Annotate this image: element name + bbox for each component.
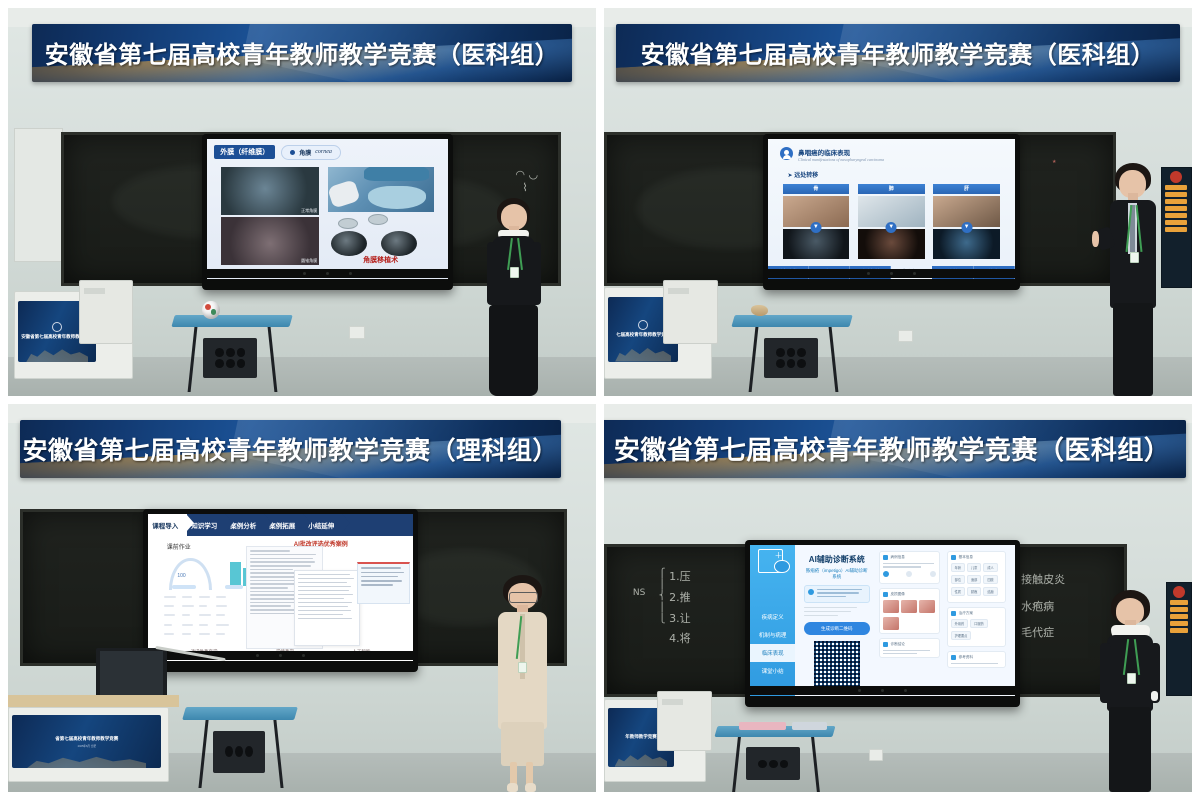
skyline-graphic: [27, 752, 146, 768]
card-icon: [951, 611, 956, 616]
bezel-dot: [279, 654, 282, 657]
bezel-dot: [858, 689, 861, 692]
desk-panel: [213, 731, 264, 773]
card-header: 病例信息: [883, 555, 936, 560]
chip[interactable]: 部位: [951, 575, 965, 584]
desk-leg: [188, 327, 198, 392]
slide-eye-anatomy: 外膜（纤维膜） 角膜 cornea 正常角膜: [207, 139, 448, 279]
slide-images: 正常角膜 圆锥角膜: [221, 167, 433, 265]
podium-sign-text: 年教师教学竞赛: [625, 734, 657, 740]
imaging-photo: [933, 229, 1000, 260]
result-card: 诊断结论: [879, 638, 940, 659]
eye-model: [202, 301, 220, 319]
slide-surface: 鼻咽癌的临床表现 Clinical manifestations of naso…: [768, 139, 1015, 279]
desk-leg: [811, 737, 820, 792]
desk-leg: [828, 327, 838, 392]
chip[interactable]: 结痂: [983, 587, 997, 596]
surgical-cap: [364, 167, 430, 181]
column-caption: 肺: [858, 184, 925, 194]
demo-desk: [173, 315, 291, 393]
keratoconus-photo: 圆锥角膜: [221, 217, 319, 265]
chip-button[interactable]: [172, 585, 196, 589]
arm: [531, 242, 541, 305]
cornea-disc: [338, 218, 358, 229]
presenter: [1092, 163, 1174, 396]
event-banner: 安徽省第七届高校青年教师教学竞赛（医科组）: [604, 420, 1186, 478]
sidebar-item-summary[interactable]: 课堂小结: [750, 662, 795, 680]
lesion-thumb[interactable]: [919, 600, 935, 613]
skull-model: [751, 305, 768, 316]
wall-socket: [349, 326, 365, 339]
chalk-note: 2.推: [669, 591, 691, 605]
column-liver: 肝 ▼: [933, 184, 1000, 259]
eyeball-graphic: [331, 231, 367, 256]
trousers: [1113, 303, 1153, 396]
desk-holes: [215, 348, 245, 367]
column-caption: 肝: [933, 184, 1000, 194]
card-icon: [883, 555, 888, 560]
intro-column: AI辅助诊断系统 脓疱疮（impetigo）AI辅助诊断系统: [804, 554, 870, 687]
demo-desk: [733, 315, 851, 393]
column-bone: 骨 ▼: [783, 184, 850, 259]
chip[interactable]: 四肢: [983, 575, 997, 584]
sidebar-item-definition[interactable]: 疾病定义: [750, 608, 795, 626]
arm: [487, 242, 497, 305]
chip[interactable]: 口服药: [970, 619, 988, 628]
screen-bezel: [750, 686, 1015, 695]
desk-holes: [758, 760, 788, 768]
card-header: 皮损图像: [883, 592, 936, 597]
slide-tag: 外膜（纤维膜）: [214, 145, 275, 159]
bezel-dot: [256, 654, 259, 657]
image-label: 正常角膜: [301, 208, 317, 214]
sidebar-item-clinical[interactable]: 临床表现: [750, 644, 795, 662]
transplant-diagram: [328, 216, 434, 257]
step-nav-spacer: [343, 514, 413, 536]
podium: 省第七届高校青年教师教学竞赛 2025年6月 合肥: [8, 707, 169, 783]
qr-code: [814, 641, 860, 687]
bezel-dot: [913, 272, 916, 275]
image-label: 圆锥角膜: [301, 258, 317, 264]
card-label: 参考资料: [959, 655, 973, 660]
bezel-dot: [302, 654, 305, 657]
panel-bottom-left: 安徽省第七届高校青年教师教学竞赛（理科组） 课程导入 知识学习 案例分析 案例拓…: [0, 400, 600, 800]
chalk-brace: ⎧ ⎪ ⎨ ⎪ ⎩: [659, 569, 666, 625]
skyline-graphic: [615, 749, 668, 767]
slide-title-cn: 鼻咽癌的临床表现: [798, 147, 884, 157]
gloved-hand: [328, 179, 360, 209]
info-icon: [808, 589, 814, 595]
slide-header: 鼻咽癌的临床表现 Clinical manifestations of naso…: [780, 147, 884, 162]
bezel-dot: [881, 689, 884, 692]
slide-title-en: Clinical manifestations of nasopharyngea…: [798, 157, 884, 162]
column-lung: 肺 ▼: [858, 184, 925, 259]
desk-top: [732, 315, 853, 327]
chevron-down-icon: ▼: [810, 222, 821, 233]
card-icon: [883, 592, 888, 597]
slide-main: AI辅助诊断系统 脓疱疮（impetigo）AI辅助诊断系统: [795, 545, 1015, 696]
banner-text: 安徽省第七届高校青年教师教学竞赛（医科组）: [45, 35, 560, 70]
presenter: [1086, 590, 1174, 792]
lesion-thumb[interactable]: [901, 600, 917, 613]
podium-sign-text: 省第七届高校青年教师教学竞赛: [55, 736, 118, 742]
id-badge: [1127, 673, 1136, 684]
photo-grid: 安徽省第七届高校青年教师教学竞赛（医科组） ◠ ◡ ⌇ 外膜（纤维膜）: [0, 0, 1200, 800]
screen-bezel: [768, 269, 1015, 278]
slide-surface: 外膜（纤维膜） 角膜 cornea 正常角膜: [207, 139, 448, 279]
bezel-dot: [349, 272, 352, 275]
bezel-dot: [326, 272, 329, 275]
slide-npc-clinical: 鼻咽癌的临床表现 Clinical manifestations of naso…: [768, 139, 1015, 279]
arm: [1100, 643, 1111, 704]
chalk-note: 1.压: [669, 570, 691, 584]
gauge-value: 100: [177, 573, 185, 579]
desk-item: [792, 722, 827, 730]
attribute-card: 基本信息 年龄儿童成人 部位面部四肢 性质脓疱结痂: [947, 551, 1006, 603]
generate-qr-button[interactable]: 生成诊断二维码: [804, 622, 870, 635]
vent: [662, 699, 683, 705]
person-icon: [780, 147, 793, 160]
app-logo-icon: ＋: [758, 549, 790, 573]
podium-sign-text: 七届高校青年教师教学竞赛: [616, 332, 670, 338]
card-icon: [951, 655, 956, 660]
term-cn: 角膜: [299, 148, 311, 157]
slide-term-pill: 角膜 cornea: [281, 145, 341, 160]
slide-surface: 课程导入 知识学习 案例分析 案例拓展 小结延伸 课前作业 AI批改评选优秀案例…: [148, 514, 413, 661]
reference-card: 参考资料: [947, 651, 1006, 668]
card-label: 诊断结论: [891, 642, 905, 647]
step-dot: [906, 571, 912, 577]
desk-holes: [225, 746, 254, 757]
event-banner: 安徽省第七届高校青年教师教学竞赛（医科组）: [616, 24, 1180, 82]
card-label: 基本信息: [959, 555, 973, 560]
presenter: [478, 575, 566, 792]
demo-desk: [716, 726, 834, 792]
trousers: [1109, 707, 1151, 792]
normal-cornea-photo: 正常角膜: [221, 167, 319, 215]
photo-bottom-right: 安徽省第七届高校青年教师教学竞赛（医科组） NS 1.压 2.推 3.让 4.将…: [604, 404, 1192, 792]
glasses-icon: [509, 592, 537, 603]
podium-sign: 省第七届高校青年教师教学竞赛 2025年6月 合肥: [12, 715, 161, 768]
case-column: 病例信息 皮损图像: [879, 551, 940, 663]
id-badge: [510, 267, 519, 278]
desk-leg: [199, 720, 209, 788]
monitor-screen: [100, 651, 162, 695]
computer-tower: [663, 280, 718, 344]
teacher-monitor: [96, 648, 167, 698]
sidebar-item-mechanism[interactable]: 机制与病理: [750, 626, 795, 644]
chip-row: 部位面部四肢: [951, 575, 1002, 584]
chalk-note: 3.让: [669, 612, 691, 626]
panel-bottom-right: 安徽省第七届高校青年教师教学竞赛（医科组） NS 1.压 2.推 3.让 4.将…: [600, 400, 1200, 800]
chalk-red-note: ★: [1052, 159, 1056, 165]
step-intro[interactable]: 课程导入: [148, 514, 187, 536]
emblem-icon: [638, 320, 648, 330]
ai-comment-note: [357, 562, 410, 603]
demo-desk: [184, 707, 296, 788]
info-callout: [804, 585, 870, 603]
imaging-photo: [858, 229, 925, 260]
chip[interactable]: 护理要点: [951, 631, 972, 640]
wall-socket: [869, 749, 883, 761]
chip-button[interactable]: [225, 585, 244, 589]
event-banner: 安徽省第七届高校青年教师教学竞赛（医科组）: [32, 24, 573, 82]
card-icon: [951, 555, 956, 560]
wall-cabinet: [14, 128, 63, 262]
step-dot: [930, 571, 936, 577]
chip[interactable]: 儿童: [967, 563, 981, 572]
photo-top-right: 安徽省第七届高校青年教师教学竞赛（医科组） 鼻咽癌 “广东癌” 基础 解剖 ◠◡…: [604, 8, 1192, 396]
skirt: [489, 305, 538, 396]
slide-sidebar[interactable]: ＋ 疾病定义 机制与病理 临床表现 课堂小结 思考题: [750, 545, 795, 696]
desk-leg: [749, 327, 759, 392]
screen-bezel: [207, 269, 448, 278]
desk-panel: [203, 338, 257, 378]
chip-row: 护理要点: [951, 631, 1002, 640]
model-patch: [211, 309, 216, 314]
display-screen[interactable]: 课程导入 知识学习 案例分析 案例拓展 小结延伸 课前作业 AI批改评选优秀案例…: [143, 509, 418, 672]
vent: [668, 288, 689, 294]
lesion-thumb[interactable]: [883, 600, 899, 613]
case-card: 病例信息: [879, 551, 940, 584]
display-screen[interactable]: 鼻咽癌的临床表现 Clinical manifestations of naso…: [763, 134, 1020, 290]
bezel-dot: [303, 272, 306, 275]
image-card: 皮损图像: [879, 588, 940, 634]
display-screen[interactable]: 外膜（纤维膜） 角膜 cornea 正常角膜: [202, 134, 453, 290]
card-label: 治疗方案: [959, 611, 973, 616]
desk-leg: [732, 737, 741, 792]
chip-row: 外用药口服药: [951, 619, 1002, 628]
event-banner: 安徽省第七届高校青年教师教学竞赛（理科组）: [20, 420, 561, 478]
slide-caption: 角膜移植术: [328, 255, 434, 265]
computer-tower: [657, 691, 712, 751]
slide-course-flow: 课程导入 知识学习 案例分析 案例拓展 小结延伸 课前作业 AI批改评选优秀案例…: [148, 514, 413, 661]
card-header: 治疗方案: [951, 611, 1002, 616]
case-document-overlay: [294, 570, 360, 646]
bezel-dot: [890, 272, 893, 275]
slide-surface: ＋ 疾病定义 机制与病理 临床表现 课堂小结 思考题 AI辅助诊断系统 脓疱疮（…: [750, 545, 1015, 696]
chip[interactable]: 年龄: [951, 563, 965, 572]
desk-item: [739, 722, 786, 730]
banner-text: 安徽省第七届高校青年教师教学竞赛（医科组）: [614, 430, 1171, 467]
shoe: [525, 783, 536, 792]
attributes-column: 基本信息 年龄儿童成人 部位面部四肢 性质脓疱结痂: [947, 551, 1006, 672]
chip[interactable]: 外用药: [951, 619, 969, 628]
treatment-card: 治疗方案 外用药口服药 护理要点: [947, 607, 1006, 647]
metastasis-columns: 骨 ▼ 肺 ▼: [783, 184, 1000, 259]
bezel-dot: [904, 689, 907, 692]
panel-top-left: 安徽省第七届高校青年教师教学竞赛（医科组） ◠ ◡ ⌇ 外膜（纤维膜）: [0, 0, 600, 400]
display-screen[interactable]: ＋ 疾病定义 机制与病理 临床表现 课堂小结 思考题 AI辅助诊断系统 脓疱疮（…: [745, 540, 1020, 707]
hand: [1092, 231, 1099, 247]
lesion-thumb[interactable]: [883, 617, 899, 630]
desk-leg: [267, 327, 277, 392]
chip[interactable]: 性质: [951, 587, 965, 596]
cornea-disc: [368, 214, 388, 225]
wrist-band: [1151, 691, 1159, 701]
desk-panel: [746, 747, 800, 780]
skirt: [501, 722, 543, 765]
presenter: [473, 198, 555, 396]
desk-panel: [764, 338, 818, 378]
slide-ai-diagnosis: ＋ 疾病定义 机制与病理 临床表现 课堂小结 思考题 AI辅助诊断系统 脓疱疮（…: [750, 545, 1015, 696]
card-icon: [883, 642, 888, 647]
shoe: [507, 783, 518, 792]
teacher-desk-top: [8, 695, 179, 707]
card-label: 病例信息: [891, 555, 905, 560]
eyeball-graphic: [381, 231, 417, 256]
lesion-thumbnails: [883, 600, 936, 630]
id-badge: [518, 662, 527, 673]
chip-row: 性质脓疱结痂: [951, 587, 1002, 596]
bullet-icon: [290, 150, 295, 155]
desk-top: [183, 707, 298, 720]
chip[interactable]: 脓疱: [967, 587, 981, 596]
chevron-down-icon: ▼: [886, 222, 897, 233]
step-dot: [883, 571, 889, 577]
banner-text: 安徽省第七届高校青年教师教学竞赛（理科组）: [22, 431, 558, 467]
slide-subtitle: 脓疱疮（impetigo）AI辅助诊断系统: [804, 568, 870, 580]
score-table: [164, 596, 233, 637]
chevron-down-icon: ▼: [961, 222, 972, 233]
chalk-note: 4.将: [669, 632, 691, 646]
podium-sign-date: 2025年6月 合肥: [78, 744, 96, 748]
surgical-mask: [368, 186, 426, 209]
slide-bullet: ➤ 远处转移: [788, 170, 819, 179]
photo-bottom-left: 安徽省第七届高校青年教师教学竞赛（理科组） 课程导入 知识学习 案例分析 案例拓…: [8, 404, 596, 792]
skyline-graphic: [26, 344, 88, 362]
surgeon-photo: [328, 167, 434, 212]
desk-leg: [274, 720, 284, 788]
slide-title: AI辅助诊断系统: [804, 554, 870, 565]
bullet-text: 远处转移: [794, 173, 818, 179]
desk-holes: [776, 348, 806, 367]
chalk-diagram: ◠ ◡ ⌇: [515, 168, 538, 196]
card-header: 诊断结论: [883, 642, 936, 647]
imaging-photo: [783, 229, 850, 260]
term-en: cornea: [315, 149, 332, 155]
chip[interactable]: 成人: [983, 563, 997, 572]
column-caption: 骨: [783, 184, 850, 194]
surgery-column: 角膜移植术: [328, 167, 434, 265]
chip[interactable]: 面部: [967, 575, 981, 584]
card-header: 基本信息: [951, 555, 1002, 560]
eye-photo-column: 正常角膜 圆锥角膜: [221, 167, 319, 265]
vent: [84, 288, 105, 294]
slide-header: 外膜（纤维膜） 角膜 cornea: [214, 145, 341, 160]
banner-text: 安徽省第七届高校青年教师教学竞赛（医科组）: [641, 35, 1156, 70]
computer-tower: [79, 280, 134, 344]
skyline-graphic: [615, 342, 671, 361]
chart-emblem-icon: [1173, 586, 1185, 598]
photo-top-left: 安徽省第七届高校青年教师教学竞赛（医科组） ◠ ◡ ⌇ 外膜（纤维膜）: [8, 8, 596, 396]
id-badge: [1130, 252, 1139, 263]
chip-row: 年龄儿童成人: [951, 563, 1002, 572]
emblem-icon: [52, 322, 62, 332]
wall-socket: [898, 330, 913, 342]
progress-steps: [883, 571, 936, 577]
card-header: 参考资料: [951, 655, 1002, 660]
section-label: 课前作业: [167, 542, 191, 551]
panel-top-right: 安徽省第七届高校青年教师教学竞赛（医科组） 鼻咽癌 “广东癌” 基础 解剖 ◠◡…: [600, 0, 1200, 400]
card-label: 皮损图像: [891, 592, 905, 597]
description-text: [804, 607, 870, 616]
chalk-ns-label: NS: [633, 588, 645, 599]
desk-top: [171, 315, 292, 327]
bezel-dot: [867, 272, 870, 275]
step-nav[interactable]: 课程导入 知识学习 案例分析 案例拓展 小结延伸: [148, 514, 413, 536]
